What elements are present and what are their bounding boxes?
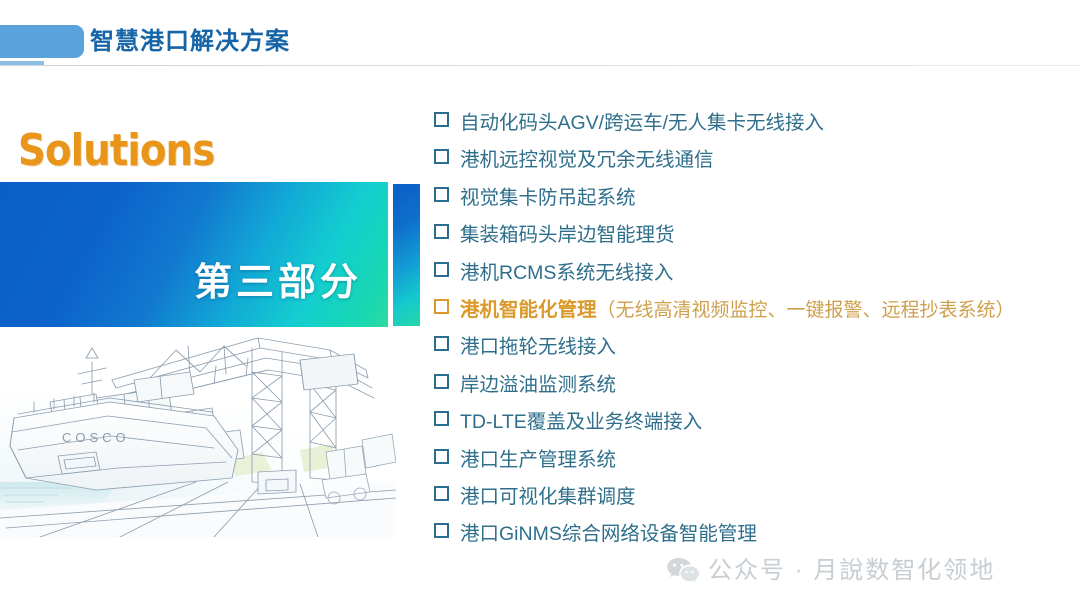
list-item-label: TD-LTE覆盖及业务终端接入 bbox=[460, 409, 702, 435]
list-item-label: 港机RCMS系统无线接入 bbox=[460, 260, 673, 286]
square-bullet-icon bbox=[434, 523, 449, 538]
banner-part-label: 第三部分 bbox=[194, 261, 362, 305]
wechat-icon bbox=[666, 556, 700, 586]
list-item-label: 视觉集卡防吊起系统 bbox=[460, 185, 636, 211]
slide-canvas: 智慧港口解决方案 Solutions 第三部分 bbox=[0, 0, 1080, 608]
list-item-label: 港机智能化管理（无线高清视频监控、一键报警、远程抄表系统） bbox=[460, 297, 1015, 324]
watermark: 公众号 · 月說数智化领地 bbox=[666, 556, 995, 586]
list-item-label: 港口GiNMS综合网络设备智能管理 bbox=[460, 521, 757, 547]
square-bullet-icon bbox=[434, 336, 449, 351]
square-bullet-icon bbox=[434, 486, 449, 501]
list-item[interactable]: 港口拖轮无线接入 bbox=[434, 334, 1074, 371]
banner-accent-strip bbox=[393, 184, 420, 326]
list-item-label: 港口拖轮无线接入 bbox=[460, 334, 616, 360]
list-item[interactable]: 港口可视化集群调度 bbox=[434, 484, 1074, 521]
square-bullet-icon bbox=[434, 411, 449, 426]
port-crane-ship-sketch: COSCO bbox=[0, 332, 396, 537]
header-tab-accent bbox=[0, 25, 84, 58]
list-item-label-main: 港机智能化管理 bbox=[460, 299, 597, 321]
list-item[interactable]: 视觉集卡防吊起系统 bbox=[434, 185, 1074, 222]
list-item-label: 岸边溢油监测系统 bbox=[460, 372, 616, 398]
header-divider bbox=[0, 65, 1080, 66]
list-item-label: 集装箱码头岸边智能理货 bbox=[460, 222, 675, 248]
section-banner: 第三部分 bbox=[0, 182, 388, 327]
square-bullet-icon bbox=[434, 149, 449, 164]
square-bullet-icon bbox=[434, 224, 449, 239]
list-item[interactable]: 港机远控视觉及冗余无线通信 bbox=[434, 147, 1074, 184]
list-item[interactable]: 自动化码头AGV/跨运车/无人集卡无线接入 bbox=[434, 110, 1074, 147]
list-item-label: 港机远控视觉及冗余无线通信 bbox=[460, 147, 714, 173]
list-item-label: 港口可视化集群调度 bbox=[460, 484, 636, 510]
slide-header: 智慧港口解决方案 bbox=[0, 0, 1080, 72]
square-bullet-icon bbox=[434, 449, 449, 464]
square-bullet-icon bbox=[434, 187, 449, 202]
page-title: 智慧港口解决方案 bbox=[90, 25, 290, 58]
square-bullet-icon bbox=[434, 299, 449, 314]
list-item[interactable]: 港机RCMS系统无线接入 bbox=[434, 260, 1074, 297]
watermark-text: 公众号 · 月說数智化领地 bbox=[708, 556, 995, 586]
list-item-label: 港口生产管理系统 bbox=[460, 447, 616, 473]
solutions-bullet-list: 自动化码头AGV/跨运车/无人集卡无线接入 港机远控视觉及冗余无线通信 视觉集卡… bbox=[434, 110, 1074, 559]
list-item-highlighted[interactable]: 港机智能化管理（无线高清视频监控、一键报警、远程抄表系统） bbox=[434, 297, 1074, 334]
list-item-label: 自动化码头AGV/跨运车/无人集卡无线接入 bbox=[460, 110, 824, 136]
list-item[interactable]: 港口GiNMS综合网络设备智能管理 bbox=[434, 521, 1074, 558]
list-item[interactable]: 港口生产管理系统 bbox=[434, 447, 1074, 484]
list-item-label-note: （无线高清视频监控、一键报警、远程抄表系统） bbox=[597, 300, 1015, 321]
square-bullet-icon bbox=[434, 374, 449, 389]
svg-text:COSCO: COSCO bbox=[62, 430, 130, 445]
square-bullet-icon bbox=[434, 112, 449, 127]
square-bullet-icon bbox=[434, 262, 449, 277]
section-title-solutions: Solutions bbox=[18, 126, 214, 176]
list-item[interactable]: TD-LTE覆盖及业务终端接入 bbox=[434, 409, 1074, 446]
list-item[interactable]: 集装箱码头岸边智能理货 bbox=[434, 222, 1074, 259]
list-item[interactable]: 岸边溢油监测系统 bbox=[434, 372, 1074, 409]
port-illustration: COSCO bbox=[0, 332, 396, 537]
